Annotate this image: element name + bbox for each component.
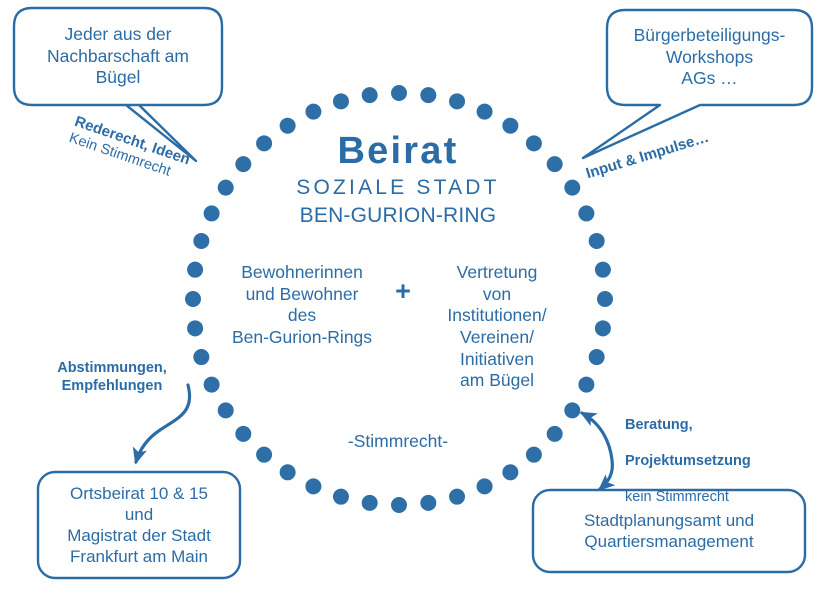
ring-dot (187, 320, 203, 336)
center-column-residents: Bewohnerinnen und Bewohner des Ben-Gurio… (213, 262, 391, 349)
plus-icon: + (391, 278, 415, 305)
ring-dot (204, 377, 220, 393)
ring-dot (589, 349, 605, 365)
ring-dot (193, 349, 209, 365)
ring-dot (547, 426, 563, 442)
arrow-abstimmungen (136, 385, 190, 462)
ring-dot (204, 205, 220, 221)
ring-dot (547, 156, 563, 172)
arrow-label-abstimmungen: Abstimmungen, Empfehlungen (42, 360, 182, 396)
ring-dot (477, 104, 493, 120)
ring-dot (362, 87, 378, 103)
ring-dot (595, 320, 611, 336)
speech-bubble-workshops-text: Bürgerbeteiligungs- Workshops AGs … (607, 10, 812, 105)
ring-dot (362, 495, 378, 511)
arrow-beratung (582, 413, 612, 489)
ring-dot (218, 180, 234, 196)
ring-dot (193, 233, 209, 249)
ring-dot (449, 489, 465, 505)
ring-dot (526, 447, 542, 463)
ring-dot (578, 377, 594, 393)
ring-dot (449, 93, 465, 109)
box-stadtplanung-text: Stadtplanungsamt und Quartiersmanagement (533, 490, 805, 572)
ring-dot (235, 426, 251, 442)
ring-dot (391, 85, 407, 101)
ring-dot (280, 464, 296, 480)
ring-dot (595, 262, 611, 278)
ring-dot (305, 478, 321, 494)
ring-dot (420, 495, 436, 511)
ring-dot (187, 262, 203, 278)
arrow-label-beratung-line2: Projektumsetzung (625, 453, 790, 471)
ring-dot (391, 497, 407, 513)
diagram-canvas: Jeder aus der Nachbarschaft am Bügel Bür… (0, 0, 820, 600)
ring-dot (256, 447, 272, 463)
ring-dot (333, 93, 349, 109)
arrow-label-beratung-line1: Beratung, (625, 417, 790, 435)
ring-dot (185, 291, 201, 307)
ring-dot (597, 291, 613, 307)
ring-dot (477, 478, 493, 494)
page-subtitle-secondary: BEN-GURION-RING (248, 203, 548, 229)
box-ortsbeirat-text: Ortsbeirat 10 & 15 und Magistrat der Sta… (38, 472, 240, 578)
center-footer-note: -Stimmrecht- (318, 431, 478, 453)
ring-dot (578, 205, 594, 221)
ring-dot (564, 402, 580, 418)
ring-dot (305, 104, 321, 120)
ring-dot (502, 464, 518, 480)
ring-dot (564, 180, 580, 196)
speech-bubble-neighborhood-text: Jeder aus der Nachbarschaft am Bügel (14, 8, 222, 105)
ring-dot (589, 233, 605, 249)
ring-dot (218, 402, 234, 418)
page-title: Beirat (248, 128, 548, 175)
center-column-institutions: Vertretung von Institutionen/ Vereinen/ … (417, 262, 577, 392)
ring-dot (420, 87, 436, 103)
ring-dot (333, 489, 349, 505)
page-subtitle: SOZIALE STADT (248, 175, 548, 201)
